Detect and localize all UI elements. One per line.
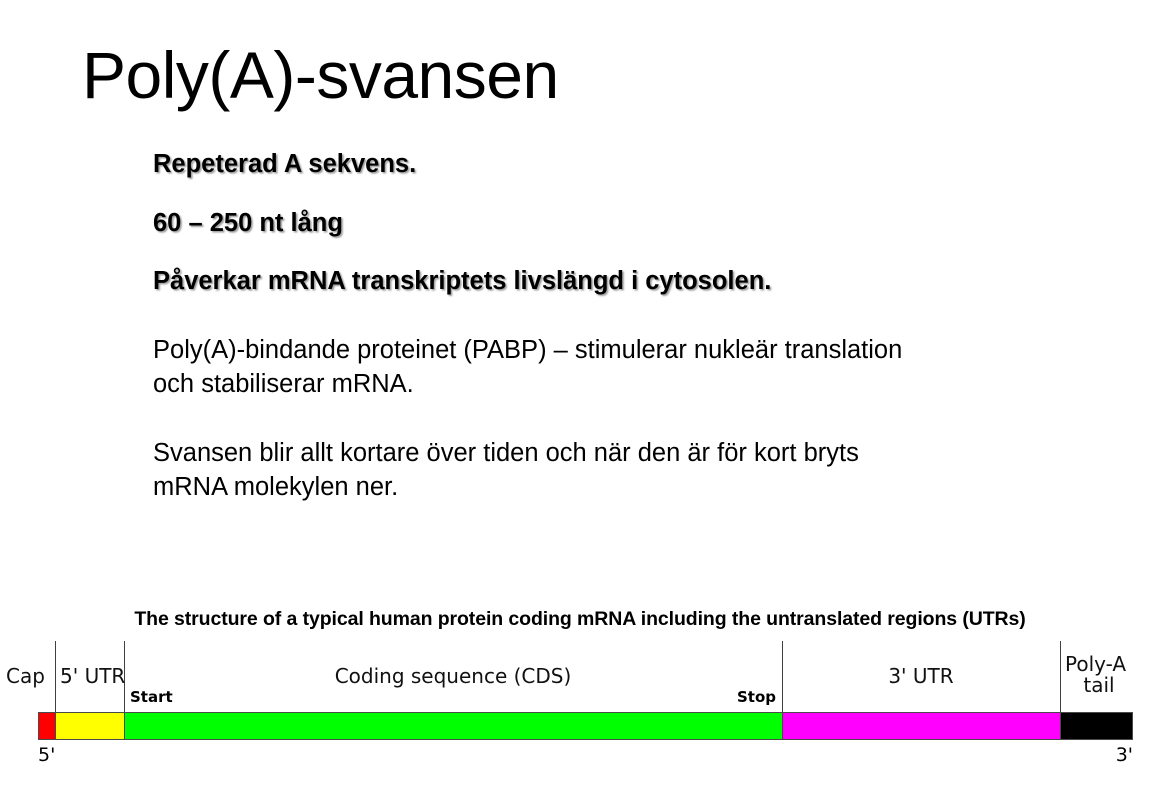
- page-title: Poly(A)-svansen: [82, 42, 559, 108]
- bar-segment-3-utr: [783, 713, 1061, 739]
- body-paragraph-5: Svansen blir allt kortare över tiden och…: [153, 437, 1033, 504]
- paragraph-spacer-2: [153, 427, 1033, 437]
- body-paragraph-4: Poly(A)-bindande proteinet (PABP) – stim…: [153, 334, 1033, 401]
- label-3-utr: 3' UTR: [782, 666, 1060, 687]
- diagram-caption: The structure of a typical human protein…: [0, 608, 1160, 631]
- label-polya-tail-line2: tail: [1065, 675, 1133, 696]
- paragraph-spacer: [153, 324, 1033, 334]
- tick-cap-boundary: [55, 641, 56, 712]
- label-5-utr: 5' UTR: [60, 666, 125, 687]
- label-coding-sequence: Coding sequence (CDS): [124, 666, 782, 687]
- mrna-bar: [38, 712, 1133, 740]
- label-polya-tail-line1: Poly-A: [1065, 654, 1126, 675]
- bar-segment-cap: [39, 713, 56, 739]
- label-3-prime-end: 3': [1095, 744, 1133, 766]
- body-paragraph-3: Påverkar mRNA transkriptets livslängd i …: [153, 265, 1033, 299]
- label-start-codon: Start: [130, 688, 173, 706]
- body-paragraph-1: Repeterad A sekvens.: [153, 148, 1033, 182]
- label-stop-codon: Stop: [700, 688, 776, 706]
- body-paragraph-2: 60 – 250 nt lång: [153, 207, 1033, 241]
- tick-polya-boundary: [1060, 641, 1061, 712]
- mrna-structure-diagram: The structure of a typical human protein…: [0, 598, 1160, 804]
- bar-segment-cds: [125, 713, 783, 739]
- bar-segment-polya-tail: [1061, 713, 1132, 739]
- bar-segment-5-utr: [56, 713, 125, 739]
- label-cap: Cap: [6, 666, 45, 687]
- label-5-prime-end: 5': [38, 744, 55, 766]
- body-text-block: Repeterad A sekvens. 60 – 250 nt lång På…: [153, 148, 1033, 531]
